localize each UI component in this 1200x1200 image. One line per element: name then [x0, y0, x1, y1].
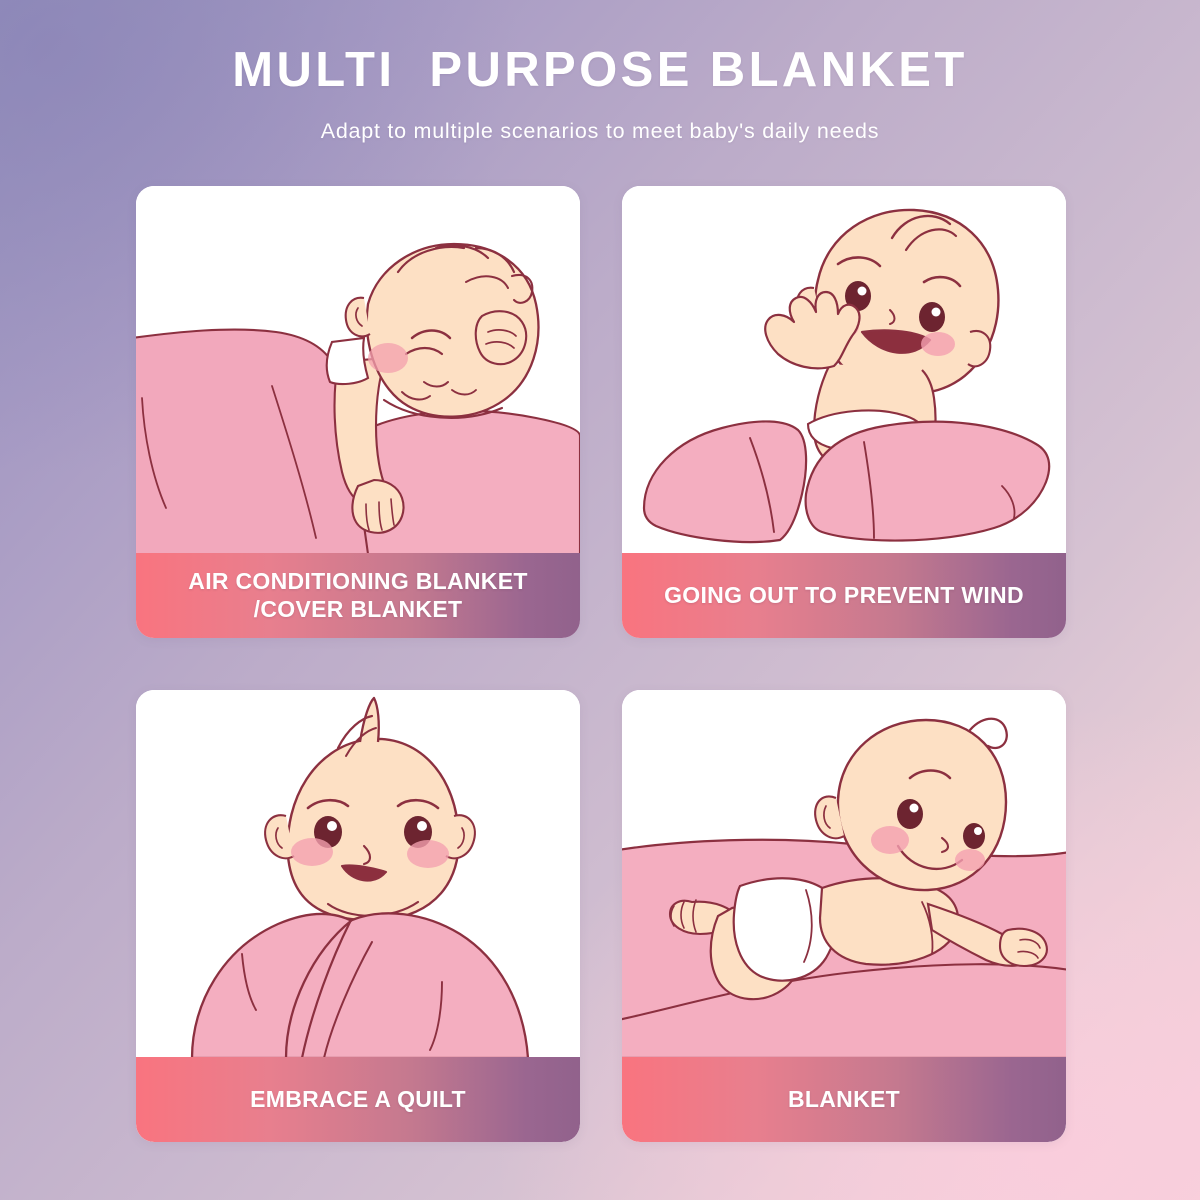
illustration-waving-baby-in-blanket [622, 186, 1066, 554]
scenario-card-grid: AIR CONDITIONING BLANKET /COVER BLANKET [136, 186, 1066, 1142]
scenario-card-air-conditioning-blanket[interactable]: AIR CONDITIONING BLANKET /COVER BLANKET [136, 186, 580, 638]
page-title: MULTI PURPOSE BLANKET [0, 44, 1200, 98]
scenario-card-blanket[interactable]: BLANKET [622, 690, 1066, 1142]
product-infographic-page: MULTI PURPOSE BLANKET Adapt to multiple … [0, 0, 1200, 1200]
card-caption: BLANKET [622, 1057, 1066, 1142]
card-caption: EMBRACE A QUILT [136, 1057, 580, 1142]
scenario-card-going-out-to-prevent-wind[interactable]: GOING OUT TO PREVENT WIND [622, 186, 1066, 638]
card-caption: GOING OUT TO PREVENT WIND [622, 553, 1066, 638]
card-caption: AIR CONDITIONING BLANKET /COVER BLANKET [136, 553, 580, 638]
header: MULTI PURPOSE BLANKET Adapt to multiple … [0, 0, 1200, 144]
illustration-swaddled-baby-portrait [136, 690, 580, 1058]
illustration-baby-lying-on-blanket [622, 690, 1066, 1058]
scenario-card-embrace-a-quilt[interactable]: EMBRACE A QUILT [136, 690, 580, 1142]
illustration-sleeping-baby-under-blanket [136, 186, 580, 554]
page-subtitle: Adapt to multiple scenarios to meet baby… [0, 119, 1200, 144]
